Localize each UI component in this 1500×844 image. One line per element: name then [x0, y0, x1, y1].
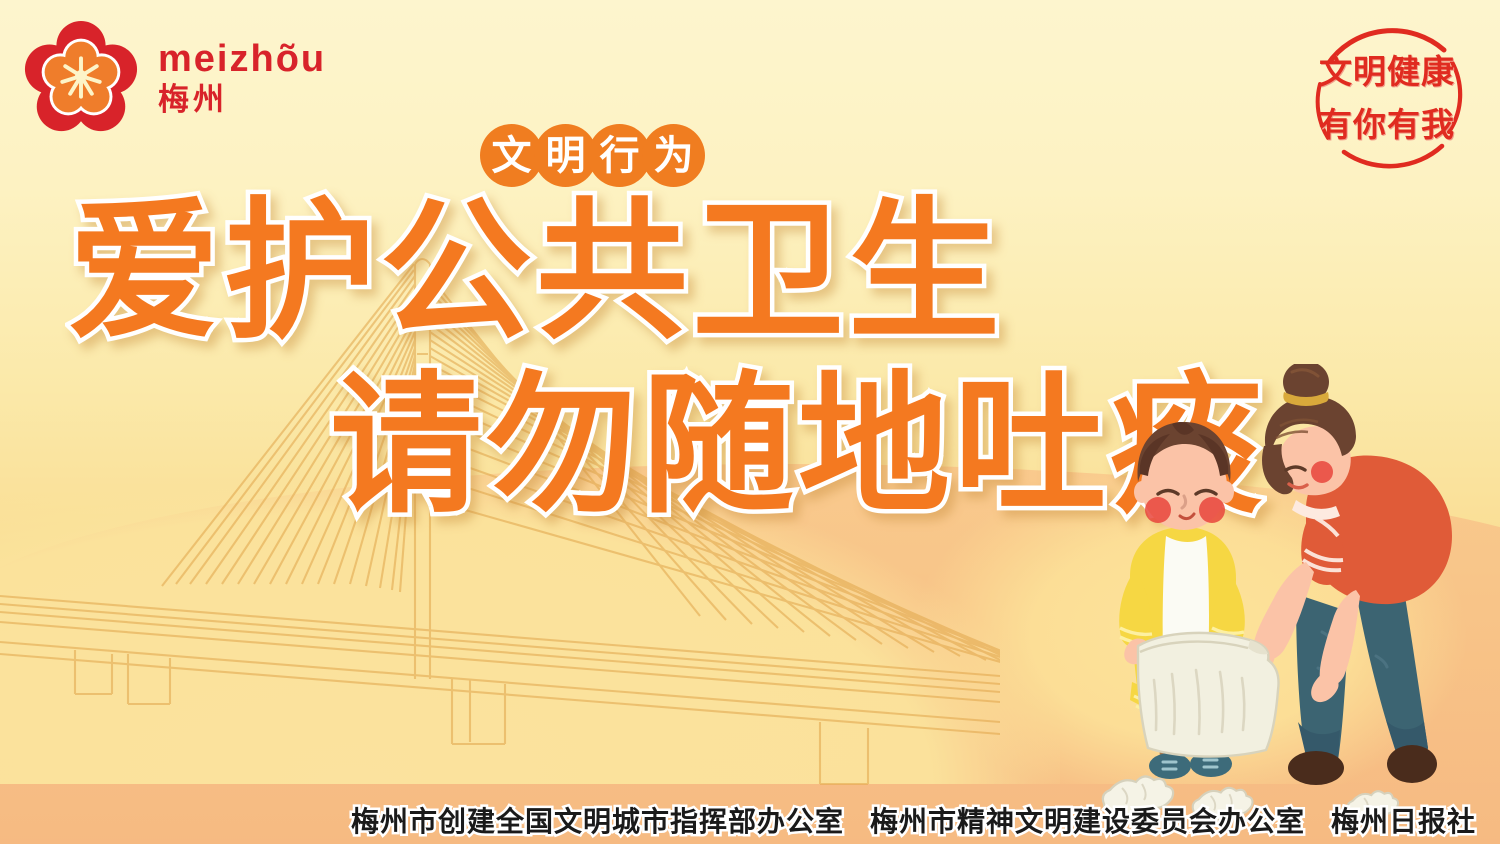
civilized-behavior-label: 文 明 行 为	[480, 124, 705, 187]
poster-canvas: meizhõu 梅州 文明健康 有你有我 文 明 行 为 爱护公共卫生 请勿随地…	[0, 0, 1500, 844]
badge-line-1: 文明健康	[1319, 45, 1455, 93]
logo-chinese-name: 梅州	[158, 84, 326, 115]
adult-hair-bun	[1283, 364, 1329, 406]
badge-line-2: 有你有我	[1319, 98, 1455, 146]
pill-char-2-text: 行	[600, 136, 640, 176]
child-blush-left	[1145, 497, 1171, 523]
pill-char-0-text: 文	[492, 136, 532, 176]
footer-item-2: 梅州日报社	[1331, 800, 1476, 840]
footer-item-1: 梅州市精神文明建设委员会办公室	[870, 800, 1305, 840]
adult-shoe-right	[1387, 745, 1437, 783]
plum-blossom-icon	[22, 18, 140, 136]
parent-and-child-figures	[1100, 364, 1500, 834]
footer-item-0: 梅州市创建全国文明城市指挥部办公室	[351, 800, 844, 840]
child-blush-right	[1199, 497, 1225, 523]
adult-shoe-left	[1288, 751, 1344, 785]
child-shoe-left	[1149, 753, 1191, 779]
pill-char-1-text: 明	[546, 136, 586, 176]
footer-organizations: 梅州市创建全国文明城市指挥部办公室 梅州市精神文明建设委员会办公室 梅州日报社	[0, 800, 1500, 840]
civilized-health-badge: 文明健康 有你有我	[1292, 6, 1482, 184]
headline-line-1: 爱护公共卫生	[68, 196, 1260, 348]
pill-char-3: 为	[642, 124, 705, 187]
meizhou-logo: meizhõu 梅州	[22, 18, 326, 136]
adult-blush	[1311, 461, 1333, 483]
pill-char-3-text: 为	[654, 136, 694, 176]
logo-pinyin: meizhõu	[158, 40, 326, 78]
parent-and-child-illustration	[1100, 364, 1500, 834]
headline-block: 爱护公共卫生 请勿随地吐痰	[0, 196, 1260, 522]
trash-bag	[1138, 633, 1279, 757]
